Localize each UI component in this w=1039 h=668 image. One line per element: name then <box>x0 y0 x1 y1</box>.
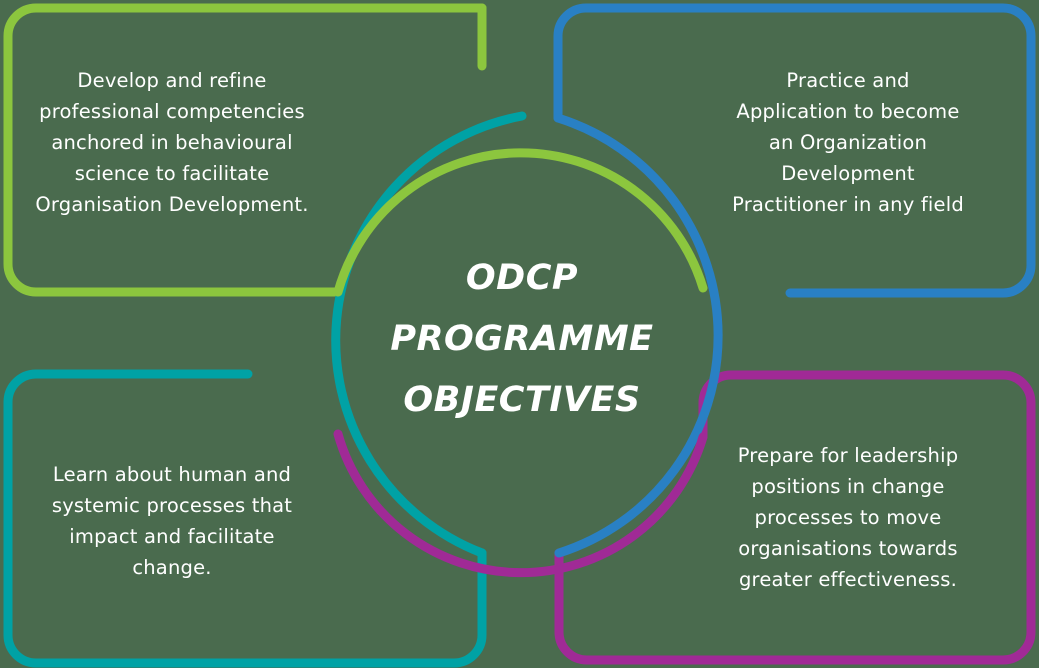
callout-text-top-left: Develop and refine professional competen… <box>28 65 316 220</box>
diagram-canvas: ODCP PROGRAMME OBJECTIVES Develop and re… <box>0 0 1039 668</box>
callout-text-bottom-right: Prepare for leadership positions in chan… <box>722 440 974 595</box>
page-title: ODCP PROGRAMME OBJECTIVES <box>352 248 692 431</box>
callout-text-top-right: Practice and Application to become an Or… <box>724 65 972 220</box>
callout-text-bottom-left: Learn about human and systemic processes… <box>30 459 314 583</box>
